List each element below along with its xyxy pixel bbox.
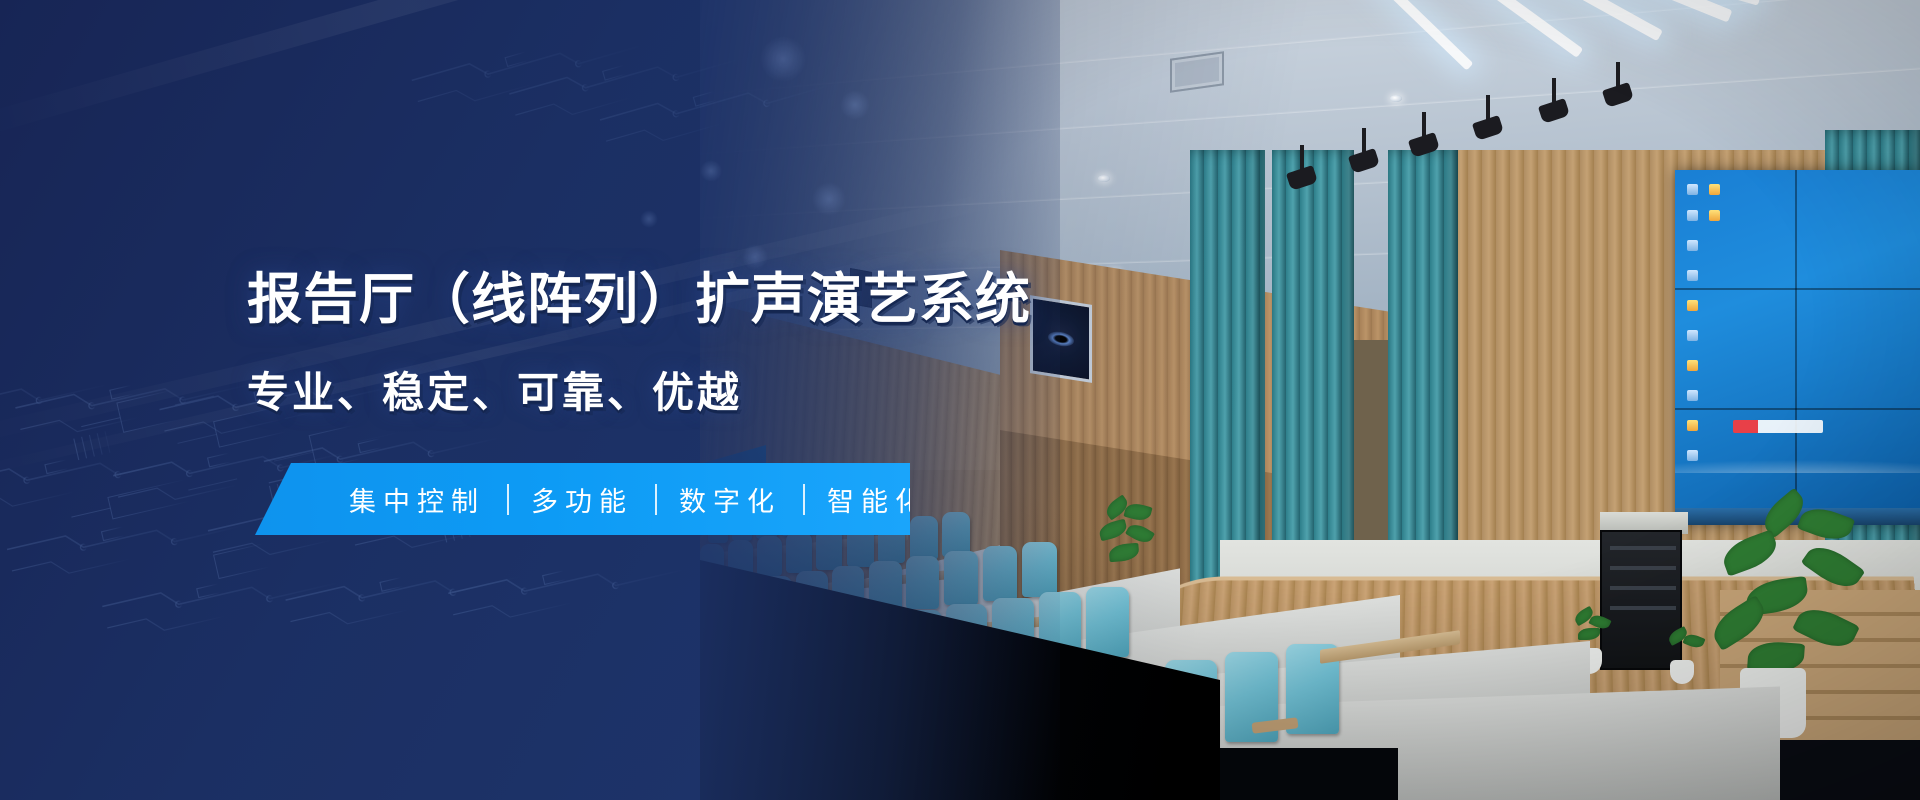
feature-tag-intelligent: 智能化: [805, 480, 951, 519]
feature-tag-digital: 数字化: [657, 480, 803, 519]
feature-tag-multifunction: 多功能: [509, 480, 655, 519]
banner-content: 报告厅（线阵列）扩声演艺系统 专业、稳定、可靠、优越 集中控制 多功能 数字化 …: [0, 0, 1920, 800]
banner-root: 报告厅（线阵列）扩声演艺系统 专业、稳定、可靠、优越 集中控制 多功能 数字化 …: [0, 0, 1920, 800]
feature-tag-bar: 集中控制 多功能 数字化 智能化: [255, 463, 910, 535]
page-title: 报告厅（线阵列）扩声演艺系统: [247, 272, 1031, 327]
page-subtitle: 专业、稳定、可靠、优越: [247, 372, 742, 414]
feature-tag-centralized-control: 集中控制: [327, 480, 507, 519]
